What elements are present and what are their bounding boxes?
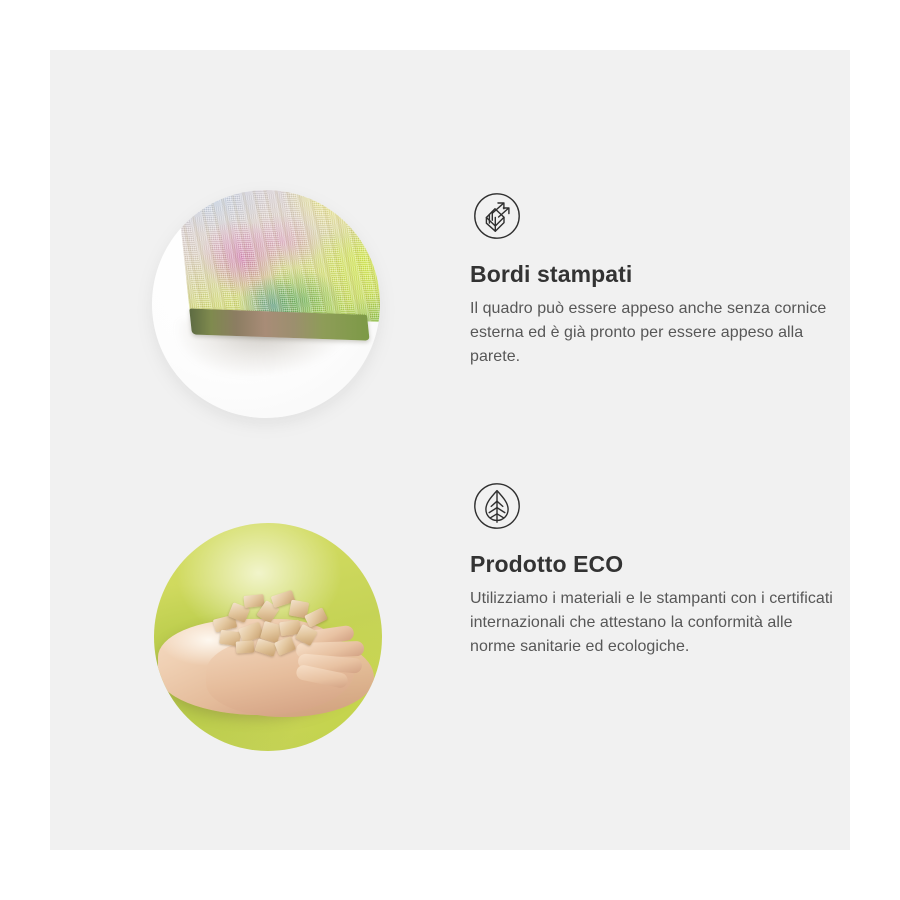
canvas-edge-arrows-icon [470,189,524,243]
canvas-printed-face [174,190,380,322]
feature-title: Bordi stampati [470,261,840,289]
canvas-printed-edge [189,309,369,341]
product-feature-page: Bordi stampati Il quadro può essere appe… [0,0,900,900]
feature-title: Prodotto ECO [470,551,840,579]
wood-chips [210,593,342,663]
canvas-photo [152,190,380,418]
printed-edges-media [150,185,386,421]
eco-product-content: Prodotto ECO Utilizziamo i materiali e l… [470,475,840,659]
eco-product-media [150,475,386,711]
content-panel: Bordi stampati Il quadro può essere appe… [50,50,850,850]
canvas-corner [179,190,380,394]
feature-description: Utilizziamo i materiali e le stampanti c… [470,587,840,659]
leaf-icon [470,479,524,533]
wood-chips-photo [154,523,382,751]
feature-printed-edges: Bordi stampati Il quadro può essere appe… [150,185,840,421]
feature-eco-product: Prodotto ECO Utilizziamo i materiali e l… [150,475,840,711]
feature-description: Il quadro può essere appeso anche senza … [470,297,840,369]
printed-edges-content: Bordi stampati Il quadro può essere appe… [470,185,840,369]
